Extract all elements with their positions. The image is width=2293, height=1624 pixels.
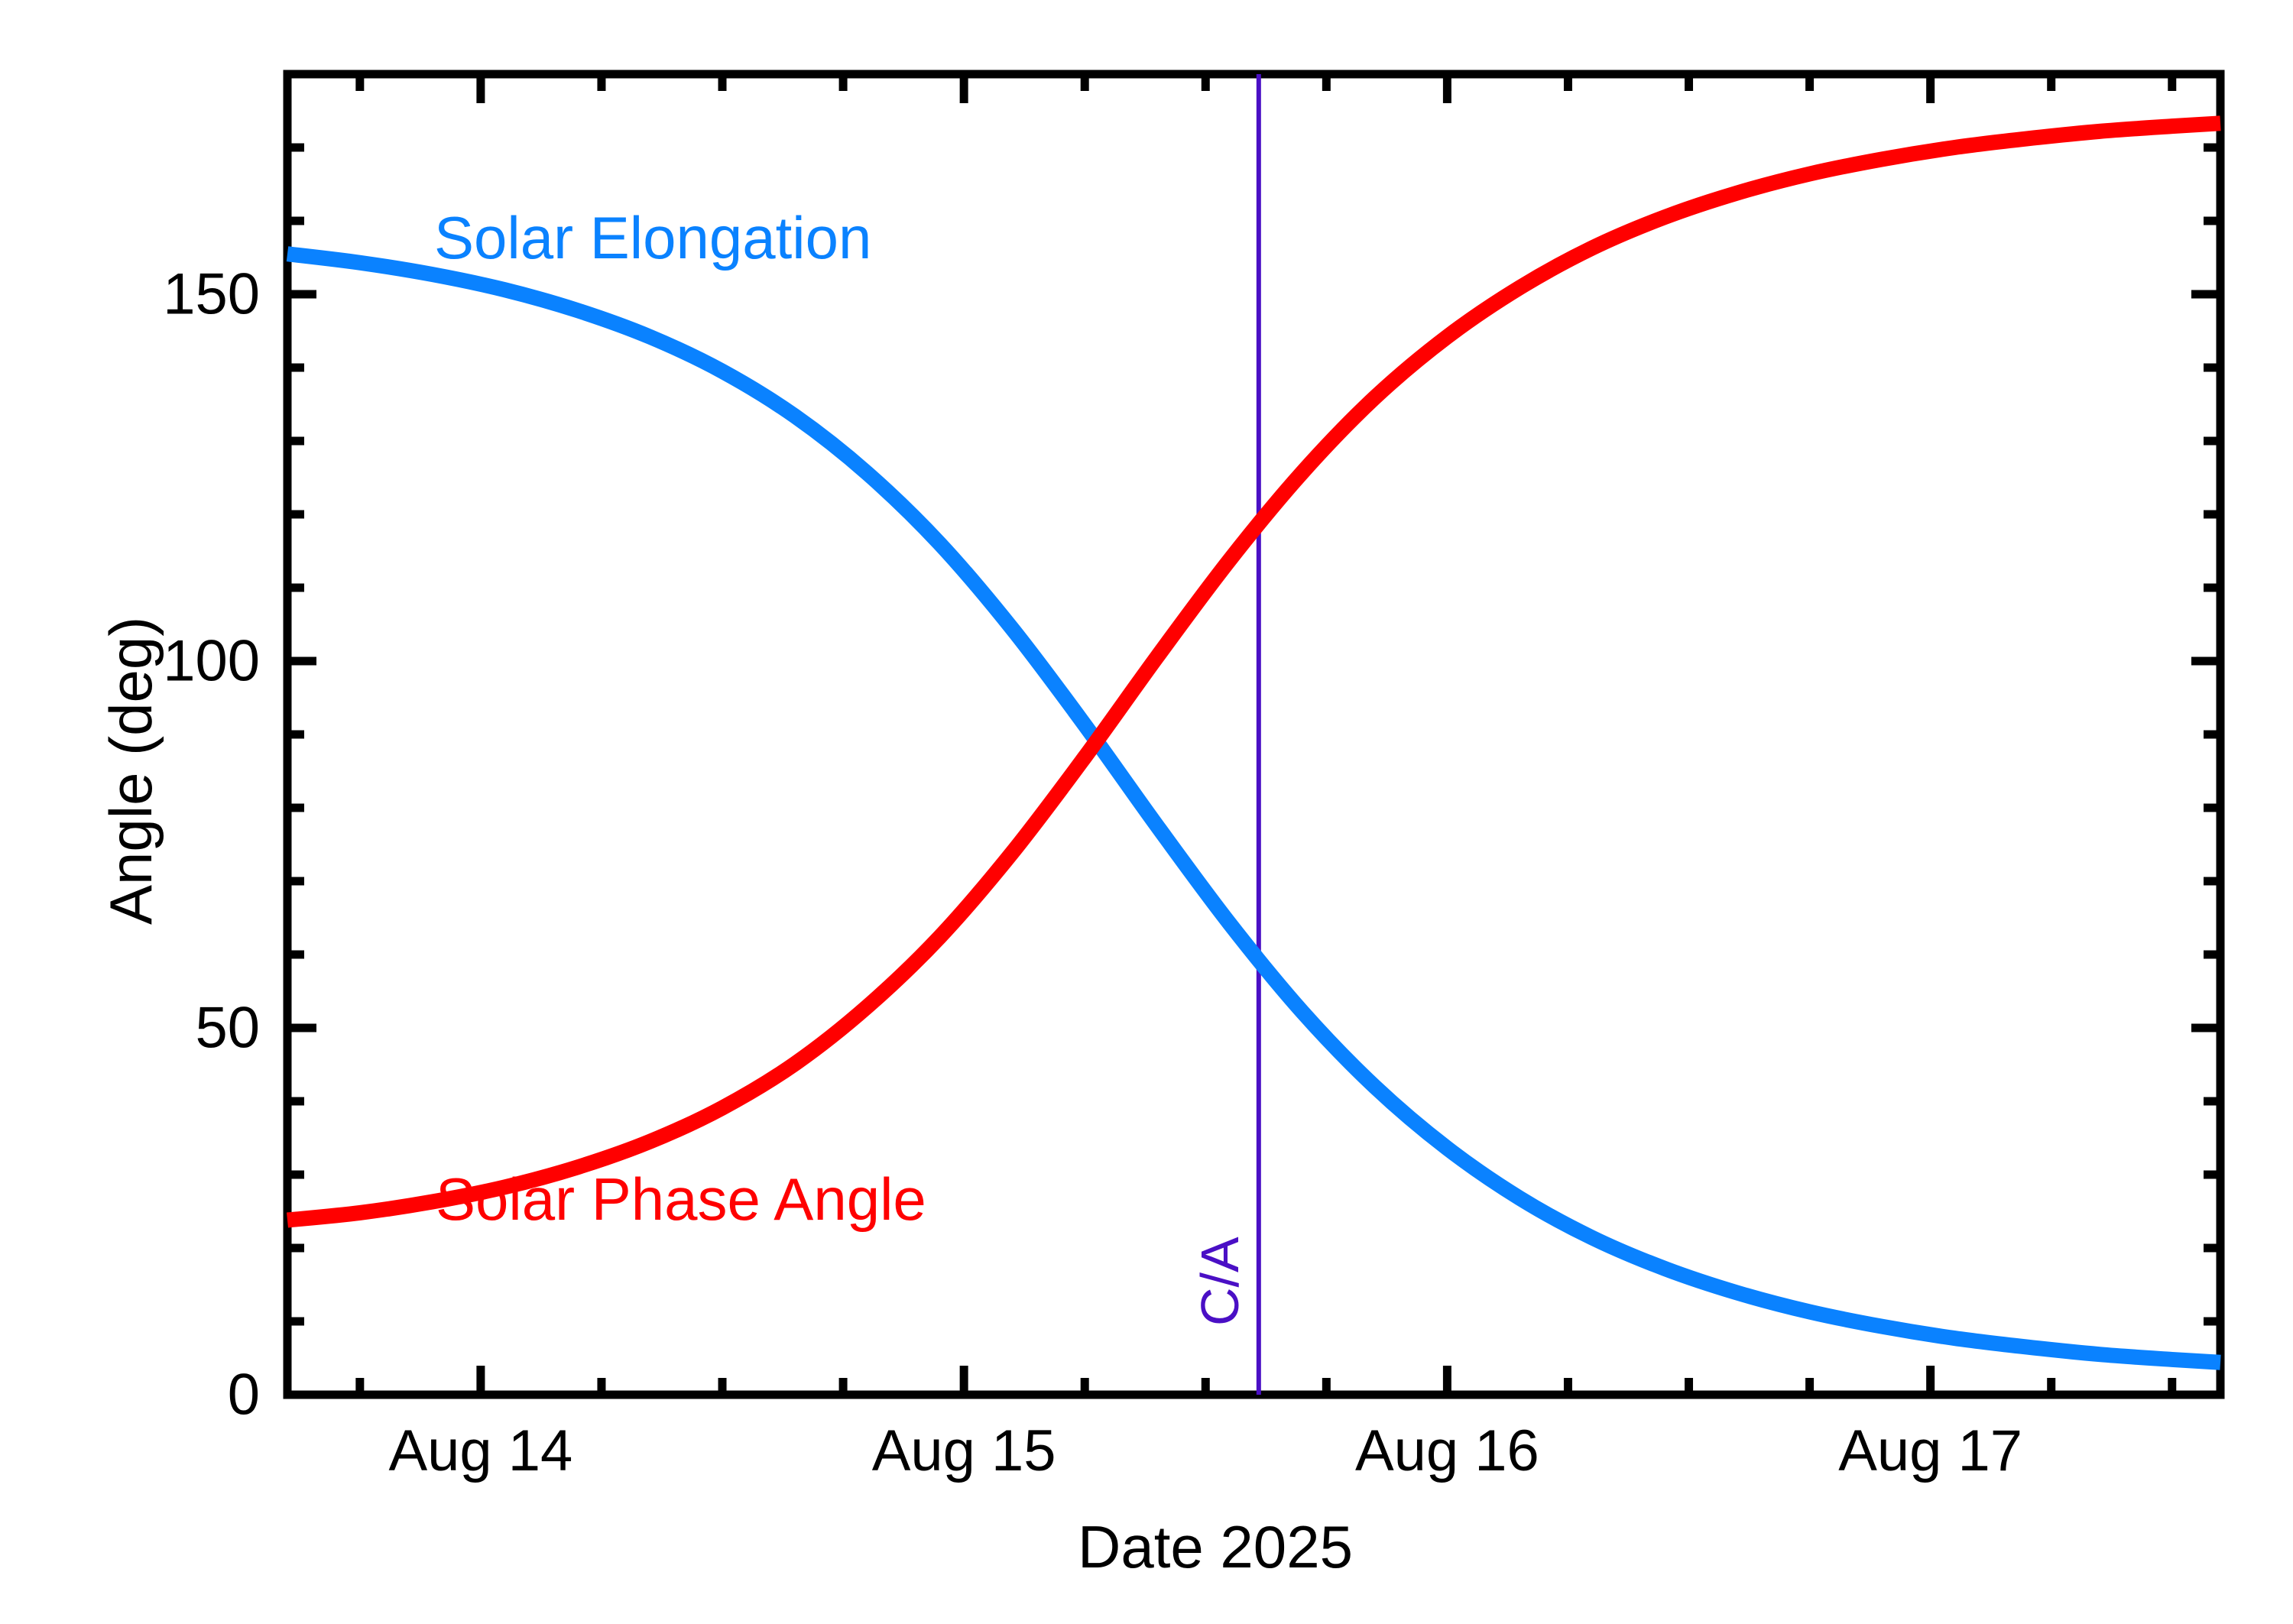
x-tick-label: Aug 14 bbox=[388, 1418, 572, 1484]
series-line-solar-phase-angle bbox=[287, 123, 2220, 1220]
y-tick-label: 150 bbox=[46, 261, 260, 328]
x-tick-label: Aug 17 bbox=[1838, 1418, 2022, 1484]
x-axis-title: Date 2025 bbox=[1078, 1517, 1353, 1577]
series-label-solar-elongation: Solar Elongation bbox=[434, 208, 871, 267]
x-tick-label: Aug 15 bbox=[872, 1418, 1056, 1484]
x-tick-label: Aug 16 bbox=[1355, 1418, 1539, 1484]
plot-canvas bbox=[0, 0, 2293, 1624]
chart-figure: Angle (deg) Date 2025 Aug 14Aug 15Aug 16… bbox=[0, 0, 2293, 1624]
y-tick-label: 0 bbox=[46, 1362, 260, 1428]
y-tick-label: 100 bbox=[46, 628, 260, 695]
series-label-solar-phase-angle: Solar Phase Angle bbox=[436, 1169, 926, 1229]
closest-approach-label: C/A bbox=[1189, 1237, 1250, 1326]
y-tick-label: 50 bbox=[46, 995, 260, 1062]
